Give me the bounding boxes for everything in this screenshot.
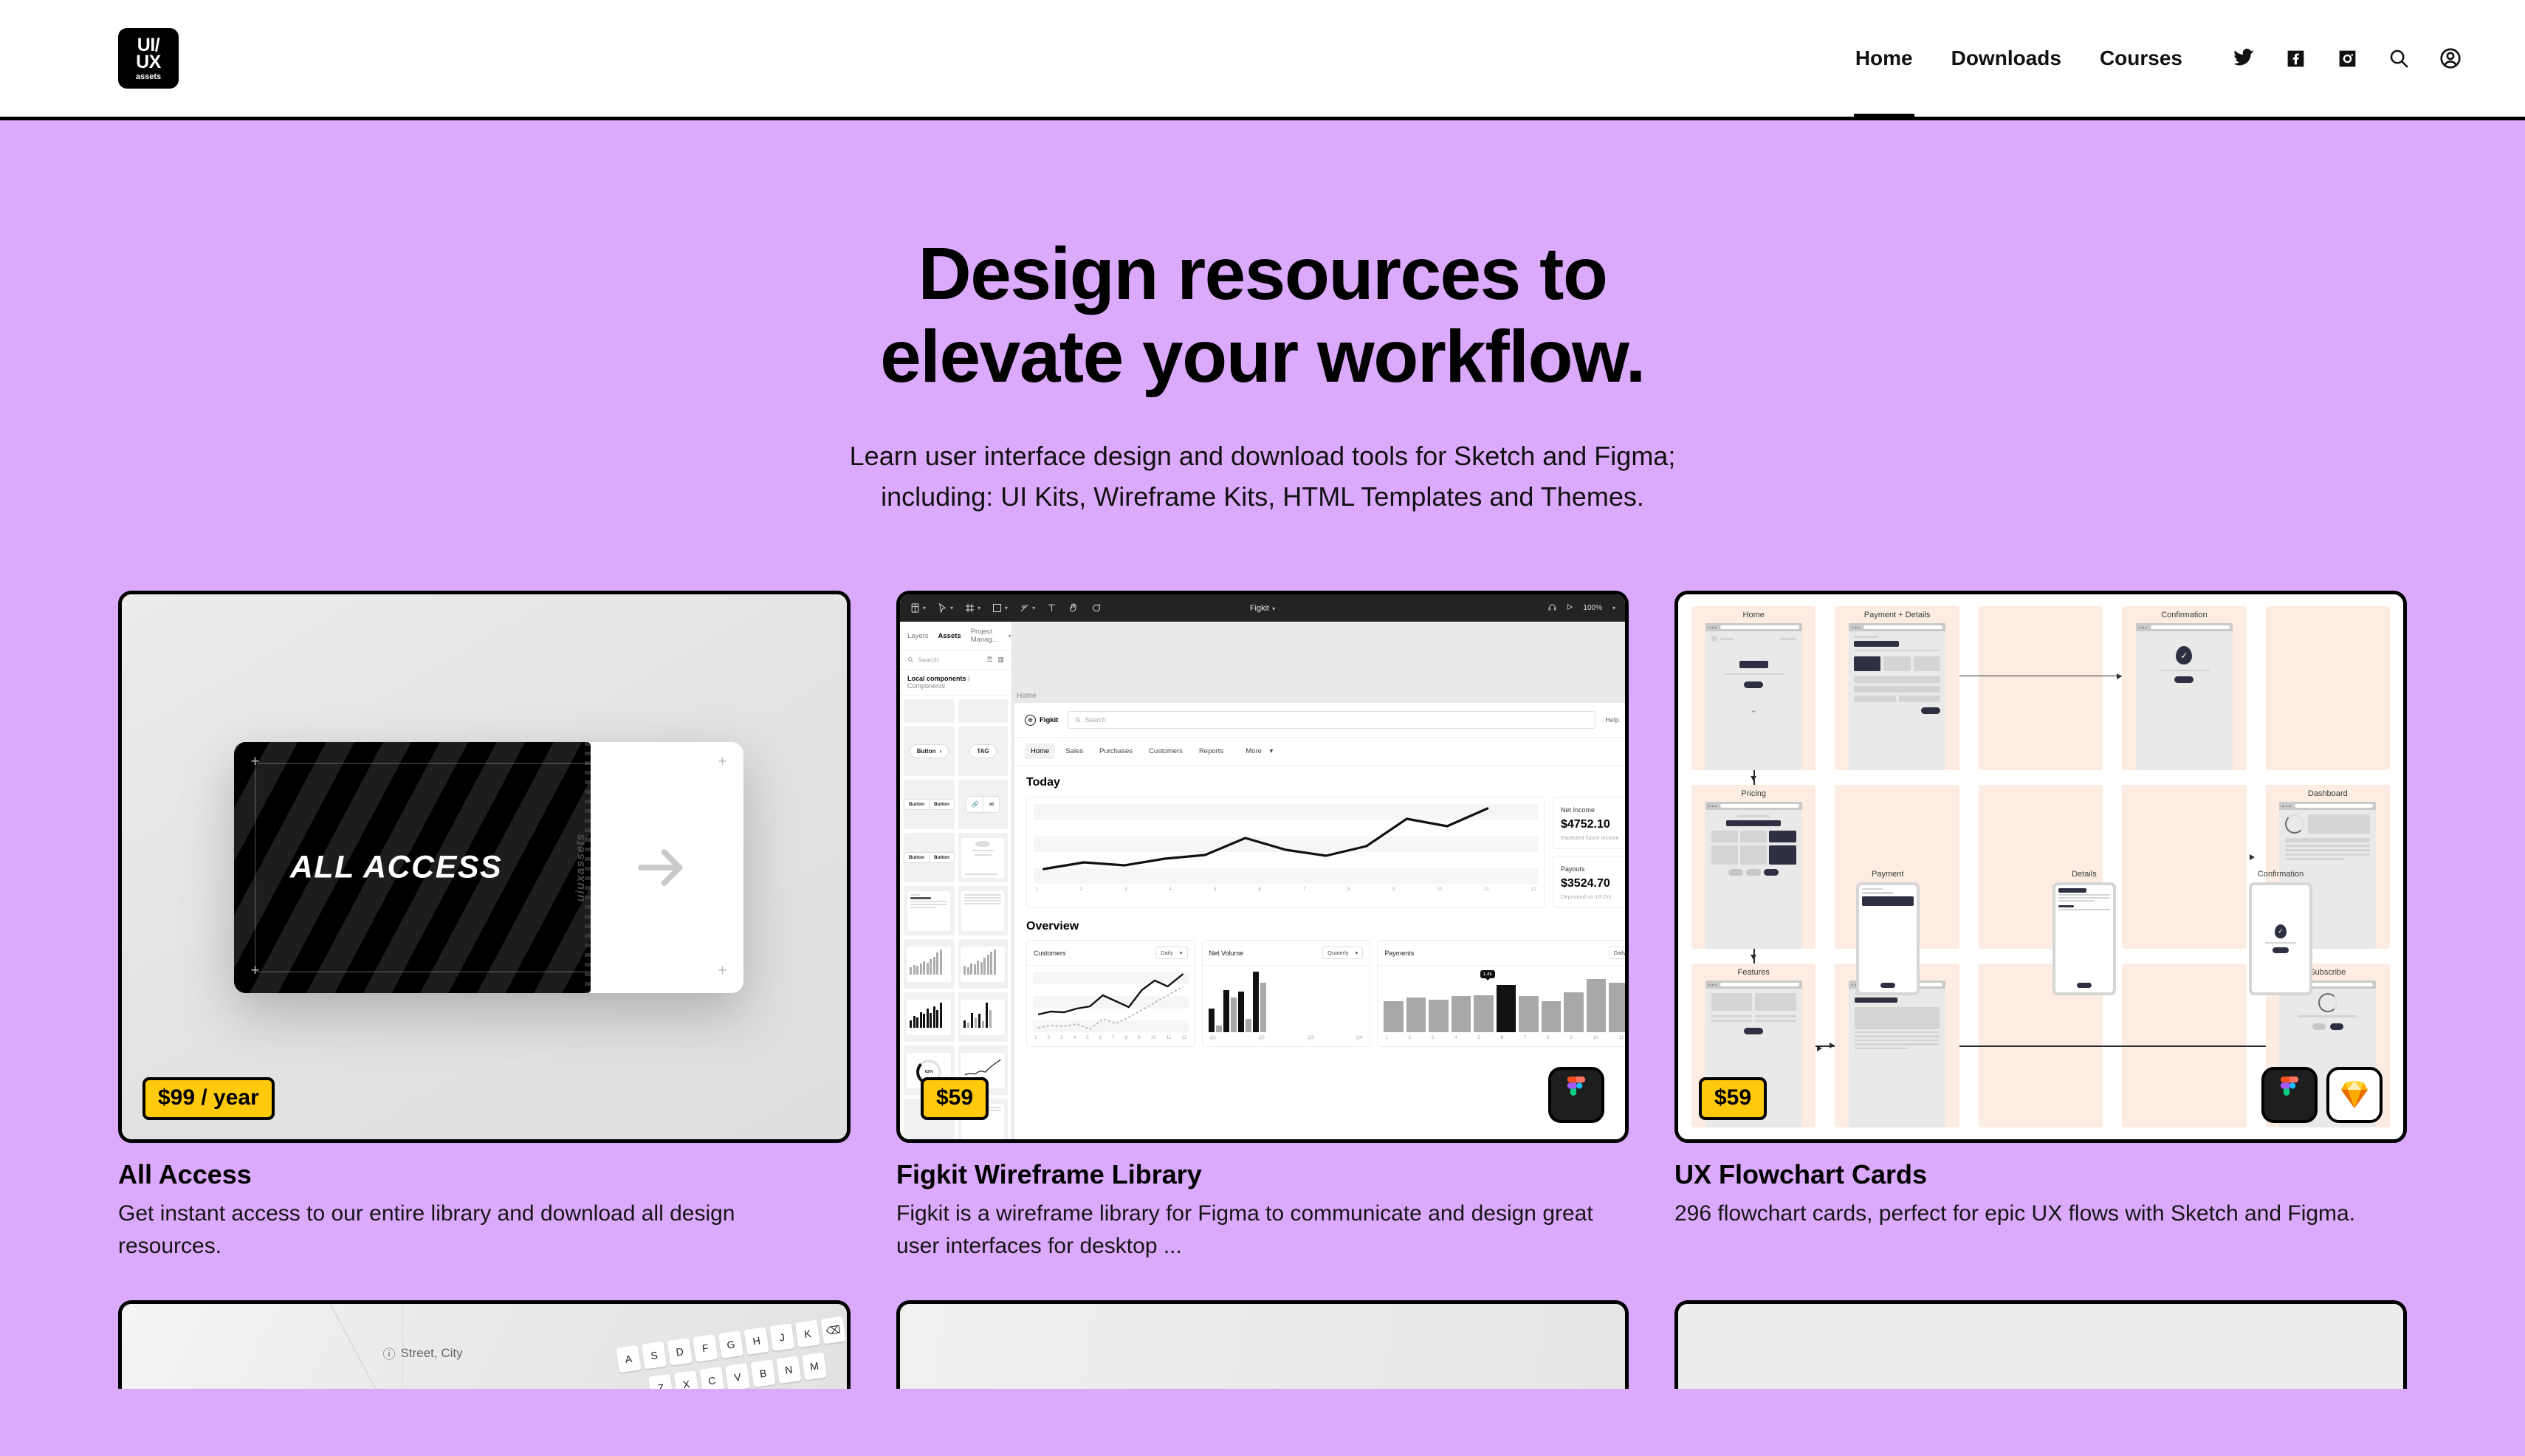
search-icon	[907, 656, 914, 663]
browser-bar	[1705, 802, 1802, 810]
overview-title: Customers	[1034, 950, 1066, 957]
keyboard-key[interactable]: N	[776, 1356, 801, 1384]
flow-screen-browser	[1705, 802, 1802, 949]
flow-cell-confirmation: Confirmation ✓	[2122, 606, 2246, 770]
breadcrumb-current: Local components	[907, 675, 966, 682]
component-tile-area-chart[interactable]	[904, 939, 955, 989]
hero-subtitle-line-2: including: UI Kits, Wireframe Kits, HTML…	[881, 481, 1644, 512]
dashboard-frame: Home ◎ Figkit Search	[1014, 703, 1625, 1139]
figma-filename: Figkit ▾	[900, 604, 1625, 613]
flow-cell-empty	[1979, 785, 2103, 949]
keyboard-key[interactable]: K	[795, 1320, 820, 1348]
tab-assets[interactable]: Assets	[938, 632, 961, 640]
component-tile-bar-chart[interactable]	[904, 992, 955, 1042]
sketch-icon	[2326, 1067, 2383, 1123]
browser-bar	[2279, 981, 2376, 989]
arrow-head-icon	[2250, 854, 2255, 860]
chart-line-series	[1034, 804, 1538, 884]
keyboard-key[interactable]: J	[769, 1324, 794, 1352]
facebook-icon[interactable]	[2270, 32, 2321, 84]
headphones-icon[interactable]	[1548, 603, 1556, 614]
flow-card-empty	[1979, 785, 2103, 949]
component-tile-article-card[interactable]	[904, 886, 955, 935]
page-title: Design resources to elevate your workflo…	[635, 233, 1890, 398]
browser-bar	[1849, 623, 1945, 631]
browser-bar	[1705, 981, 1802, 989]
period-select[interactable]: Daily▾	[1155, 947, 1187, 959]
flow-connector	[2247, 1045, 2266, 1047]
dashboard-logo: ◎ Figkit	[1025, 715, 1058, 726]
chart-x-axis: Q1Q2Q3Q4	[1209, 1032, 1364, 1040]
flow-card-label: Confirmation	[2161, 611, 2207, 619]
resource-card-all-access[interactable]: ALL ACCESS uiuxassets + + + + $99 / year…	[118, 591, 851, 1262]
dashboard-search-placeholder: Search	[1085, 716, 1106, 724]
logo-line-3: assets	[136, 73, 161, 80]
stat-value: $3524.70	[1561, 877, 1625, 890]
arrow-head-icon	[1751, 955, 1756, 960]
chart-tooltip: 1.4k	[1480, 970, 1495, 978]
keyboard-key[interactable]: G	[718, 1331, 743, 1359]
net-volume-bars	[1209, 972, 1364, 1032]
stat-column: Net Income $4752.10 Expected future inco…	[1553, 797, 1625, 908]
today-row: 123456789101112 Net Income	[1026, 797, 1625, 908]
nav-icon-group	[2218, 32, 2476, 84]
dashboard-nav-more[interactable]: More ▾	[1234, 744, 1279, 759]
component-tile[interactable]	[958, 699, 1008, 723]
flow-card: Dashboard	[2266, 785, 2390, 949]
uiuxassets-logo[interactable]: UI/ UX assets	[118, 28, 179, 89]
stat-label: Net Income	[1561, 806, 1595, 814]
browser-bar	[1705, 623, 1802, 631]
keyboard-key[interactable]: H	[743, 1328, 769, 1356]
help-link[interactable]: Help	[1605, 716, 1619, 724]
browser-bar	[2136, 623, 2233, 631]
resource-card-row2-2[interactable]	[896, 1300, 1629, 1389]
flow-card: Confirmation ✓	[2122, 606, 2246, 770]
ticket-stub	[580, 742, 743, 993]
chart-x-axis: 123456789101112	[1384, 1032, 1625, 1040]
overview-header: Customers Daily▾	[1027, 941, 1195, 966]
arrow-right-icon	[631, 837, 693, 899]
hero-section: Design resources to elevate your workflo…	[0, 120, 2525, 517]
search-icon[interactable]	[2373, 32, 2425, 84]
figma-panel-tabs: Layers Assets Project Manag... ▾	[900, 622, 1011, 650]
account-icon[interactable]	[2425, 32, 2476, 84]
keyboard-key[interactable]: Z	[648, 1374, 673, 1389]
component-tile-button[interactable]: Button›	[904, 727, 955, 776]
overview-panel-customers: Customers Daily▾	[1026, 940, 1195, 1047]
card-description: 296 flowchart cards, perfect for epic UX…	[1674, 1198, 2383, 1230]
chevron-down-icon: ▾	[1356, 950, 1358, 956]
overview-panel-payments: Payments Daily▾ 1.4k	[1377, 940, 1625, 1047]
stat-card-payouts: Payouts $3524.70 Deposited on 18 Oct	[1553, 856, 1625, 908]
nav-item-downloads[interactable]: Downloads	[1932, 0, 2081, 117]
section-heading-today: Today	[1026, 776, 1625, 789]
tool-badge-group	[1548, 1067, 1604, 1123]
twitter-icon[interactable]	[2218, 32, 2270, 84]
ticket-graphic: ALL ACCESS uiuxassets + + + +	[234, 742, 743, 993]
flow-card-label: Payment + Details	[1864, 611, 1931, 619]
list-view-icon[interactable]: ☰	[986, 656, 992, 664]
flow-card-empty	[2266, 606, 2390, 770]
figma-canvas[interactable]: Home ◎ Figkit Search	[1012, 622, 1625, 1139]
component-tile-contact-card[interactable]	[958, 833, 1008, 882]
arrow-head-icon	[1817, 1045, 1822, 1051]
keyboard-key[interactable]: V	[725, 1364, 750, 1390]
figma-window-mockup: ▾ ▾ ▾ ▾ ▾ Figkit ▾ 100% ▾	[900, 594, 1625, 1139]
dashboard-actions: Help 🔔 ⚙ ◉	[1605, 716, 1625, 724]
instagram-icon[interactable]	[2321, 32, 2373, 84]
chevron-down-icon[interactable]: ▾	[1009, 633, 1011, 639]
dashboard-topbar: ◎ Figkit Search Help 🔔	[1014, 703, 1625, 738]
flow-card-empty	[2122, 785, 2246, 949]
plain-thumbnail	[1678, 1304, 2403, 1389]
flow-card-empty	[1979, 606, 2103, 770]
keyboard-key[interactable]: S	[642, 1342, 667, 1370]
main-navigation: Home Downloads Courses	[1836, 0, 2476, 117]
dashboard-nav-reports[interactable]: Reports	[1193, 744, 1229, 759]
resource-card-grid: ALL ACCESS uiuxassets + + + + $99 / year…	[118, 591, 2407, 1262]
component-tile-icon-buttons[interactable]: ButtonButton	[904, 833, 955, 882]
card-thumbnail[interactable]: Home ⌄	[1674, 591, 2407, 1143]
ticket-main: ALL ACCESS uiuxassets	[234, 742, 591, 993]
assets-component-grid: Button› TAG ButtonButton 🔗✉	[900, 696, 1011, 1139]
flow-cell-empty	[1979, 606, 2103, 770]
figma-body: Layers Assets Project Manag... ▾ Search …	[900, 622, 1625, 1139]
price-badge: $99 / year	[142, 1077, 275, 1120]
card-title: All Access	[118, 1159, 851, 1190]
flow-card-label: Article	[1886, 968, 1909, 977]
overview-title: Net Volume	[1209, 950, 1244, 957]
keyboard-key[interactable]: F	[693, 1334, 718, 1362]
chevron-right-icon: ›	[939, 748, 941, 755]
overview-body: 1.4k 123456789101112	[1378, 966, 1625, 1046]
mail-icon: ✉	[983, 796, 1000, 813]
flow-screen-browser: ✓	[2136, 623, 2233, 770]
keyboard-key[interactable]: A	[616, 1345, 641, 1373]
card-thumbnail[interactable]: ALL ACCESS uiuxassets + + + + $99 / year	[118, 591, 851, 1143]
ticket-perforation	[585, 742, 591, 993]
flow-card: Pricing	[1691, 785, 1815, 949]
dashboard-brand: Figkit	[1040, 716, 1058, 724]
flow-screen-browser	[1849, 981, 1945, 1127]
overview-title: Payments	[1384, 950, 1414, 957]
flow-cell-pricing: Pricing	[1691, 785, 1815, 949]
dashboard-nav-customers[interactable]: Customers	[1143, 744, 1189, 759]
flow-card-label: Pricing	[1741, 789, 1766, 798]
chevron-down-icon: ▾	[1180, 950, 1183, 956]
arrow-head-icon	[2117, 673, 2122, 679]
browser-bar	[1849, 981, 1945, 989]
flow-screen-browser: ⌄	[1705, 623, 1802, 770]
tab-project-manager[interactable]: Project Manag...	[971, 628, 998, 644]
ux-flowchart-mockup: Home ⌄	[1678, 594, 2403, 1139]
dashboard-today-section: Today	[1014, 766, 1625, 1047]
card-title: Figkit Wireframe Library	[896, 1159, 1629, 1190]
customers-chart	[1033, 972, 1189, 1032]
overview-panel-net-volume: Net Volume Quaterly▾	[1202, 940, 1371, 1047]
stat-header: Payouts	[1561, 864, 1625, 874]
arrow-head-icon	[1751, 776, 1756, 781]
keyboard-key[interactable]: D	[667, 1338, 692, 1366]
backspace-icon[interactable]: ⌫	[820, 1316, 845, 1345]
chart-x-axis: 123456789101112	[1034, 884, 1538, 892]
flow-card-label: Dashboard	[2308, 789, 2348, 798]
flow-cell-empty	[2122, 964, 2246, 1127]
keyboard-key[interactable]: C	[699, 1367, 724, 1389]
flow-card: Home ⌄	[1691, 606, 1815, 770]
tool-badge-group	[2261, 1067, 2383, 1123]
card-description: Get instant access to our entire library…	[118, 1198, 827, 1262]
nav-item-home[interactable]: Home	[1836, 0, 1932, 117]
flow-cell-empty	[1835, 785, 1959, 949]
present-icon[interactable]	[1566, 603, 1573, 613]
flow-cell-empty	[2266, 606, 2390, 770]
zoom-level[interactable]: 100%	[1583, 604, 1602, 612]
flow-cell-dashboard: Dashboard	[2266, 785, 2390, 949]
resource-card-row2-3[interactable]	[1674, 1300, 2407, 1389]
card-title: UX Flowchart Cards	[1674, 1159, 2407, 1190]
frame-label: Home	[1017, 692, 1037, 700]
flow-grid: Home ⌄	[1691, 606, 2390, 1127]
component-tile-area-chart-2[interactable]	[958, 939, 1008, 989]
chevron-down-icon[interactable]: ▾	[1612, 605, 1615, 611]
stat-label: Payouts	[1561, 865, 1585, 873]
dashboard-search-input[interactable]: Search	[1068, 711, 1595, 729]
flow-card-label: Features	[1737, 968, 1769, 977]
keyboard-key[interactable]: X	[673, 1370, 698, 1389]
overview-body: 123456789101112	[1027, 966, 1195, 1046]
tab-layers[interactable]: Layers	[907, 632, 929, 640]
grid-view-icon[interactable]: ▥	[997, 656, 1004, 664]
browser-bar	[2279, 802, 2376, 810]
overview-row: Customers Daily▾	[1026, 940, 1625, 1047]
price-badge: $59	[921, 1077, 989, 1120]
keyboard-key[interactable]: B	[750, 1360, 775, 1388]
flow-screen-browser	[1849, 623, 1945, 770]
hero-title-line-1: Design resources to	[918, 233, 1607, 315]
dashboard-nav-home[interactable]: Home	[1025, 744, 1055, 759]
assets-view-toggles: ☰ ▥	[986, 656, 1004, 664]
dashboard-nav-purchases[interactable]: Purchases	[1093, 744, 1138, 759]
flow-card-empty	[1835, 785, 1959, 949]
assets-breadcrumb: Local components / Components	[900, 670, 1011, 696]
resource-card-row2-1[interactable]: ⓘ Street, City A S D F G H J K ⌫ Z X C V…	[118, 1300, 851, 1389]
hero-subtitle: Learn user interface design and download…	[0, 436, 2525, 517]
figma-left-panel: Layers Assets Project Manag... ▾ Search …	[900, 622, 1012, 1139]
flow-cell-home: Home ⌄	[1691, 606, 1815, 770]
flow-card-label: Subscribe	[2309, 968, 2346, 977]
dashboard-nav-sales[interactable]: Sales	[1059, 744, 1089, 759]
address-text: Street, City	[401, 1346, 463, 1361]
assets-search-placeholder: Search	[918, 656, 939, 664]
section-heading-overview: Overview	[1026, 920, 1625, 933]
stat-subtitle: Expected future income	[1561, 834, 1625, 841]
keyboard-key[interactable]: M	[802, 1353, 827, 1381]
flow-card-label: Home	[1743, 611, 1765, 619]
figma-icon	[2261, 1067, 2318, 1123]
overview-header: Payments Daily▾	[1378, 941, 1625, 966]
period-select[interactable]: Daily▾	[1609, 947, 1625, 959]
flow-connector	[2103, 1045, 2265, 1047]
hero-title-line-2: elevate your workflow.	[880, 315, 1645, 398]
dashboard-nav: Home Sales Purchases Customers Reports M…	[1014, 738, 1625, 766]
link-icon: 🔗	[966, 796, 983, 813]
wireframe-thumbnail	[900, 1304, 1625, 1389]
stat-value: $4752.10	[1561, 818, 1625, 831]
flow-screen-browser	[2279, 802, 2376, 949]
nav-item-courses[interactable]: Courses	[2081, 0, 2202, 117]
overview-header: Net Volume Quaterly▾	[1203, 941, 1370, 966]
resource-card-ux-flowchart[interactable]: Home ⌄	[1674, 591, 2407, 1262]
payments-bars: 1.4k	[1384, 972, 1625, 1032]
logo-line-2: UX	[136, 54, 161, 71]
stat-subtitle: Deposited on 18 Oct	[1561, 893, 1625, 900]
price-badge: $59	[1699, 1077, 1767, 1120]
dashboard-logo-mark: ◎	[1025, 715, 1036, 726]
chart-x-axis: 123456789101112	[1033, 1032, 1189, 1040]
stat-card-net-income: Net Income $4752.10 Expected future inco…	[1553, 797, 1625, 849]
search-icon	[1075, 717, 1081, 723]
stat-header: Net Income	[1561, 805, 1625, 815]
today-line-chart: 123456789101112	[1026, 797, 1545, 908]
flow-cell-article: Article	[1835, 964, 1959, 1127]
component-tile-list[interactable]	[958, 886, 1008, 935]
flow-cell-payment-details: Payment + Details	[1835, 606, 1959, 770]
period-select[interactable]: Quaterly▾	[1322, 947, 1363, 959]
flow-card: Payment + Details	[1835, 606, 1959, 770]
flow-connector	[1959, 676, 2122, 677]
overview-body: Q1Q2Q3Q4	[1203, 966, 1370, 1046]
resource-card-figkit[interactable]: ▾ ▾ ▾ ▾ ▾ Figkit ▾ 100% ▾	[896, 591, 1629, 1262]
flow-cell-empty	[2122, 785, 2246, 949]
ticket-label: ALL ACCESS	[234, 850, 558, 886]
card-thumbnail[interactable]: ▾ ▾ ▾ ▾ ▾ Figkit ▾ 100% ▾	[896, 591, 1629, 1143]
component-tile[interactable]	[904, 699, 955, 723]
card-description: Figkit is a wireframe library for Figma …	[896, 1198, 1605, 1262]
figma-icon	[1548, 1067, 1604, 1123]
hero-subtitle-line-1: Learn user interface design and download…	[850, 441, 1676, 471]
flow-connector	[1959, 1045, 2122, 1047]
chart-plot-area	[1034, 804, 1538, 884]
info-icon: ⓘ	[383, 1344, 396, 1362]
component-tile-button-pair[interactable]: ButtonButton	[904, 780, 955, 829]
address-label: ⓘ Street, City	[383, 1344, 463, 1362]
arrow-head-icon	[1830, 1043, 1835, 1048]
site-header: UI/ UX assets Home Downloads Courses	[0, 0, 2525, 120]
flow-cell-empty	[1979, 964, 2103, 1127]
figma-toolbar: ▾ ▾ ▾ ▾ ▾ Figkit ▾ 100% ▾	[900, 594, 1625, 622]
component-tile-icon-pair[interactable]: 🔗✉	[958, 780, 1008, 829]
component-tile-tag[interactable]: TAG	[958, 727, 1008, 776]
assets-search-field[interactable]: Search ☰ ▥	[900, 650, 1011, 670]
component-tile-grouped-bar-chart[interactable]	[958, 992, 1008, 1042]
figma-topbar-right: 100% ▾	[1548, 603, 1615, 614]
flow-card: Article	[1835, 964, 1959, 1127]
check-badge-icon: ✓	[2176, 646, 2192, 665]
resource-card-grid-row-2: ⓘ Street, City A S D F G H J K ⌫ Z X C V…	[118, 1300, 2407, 1389]
all-access-ticket-scene: ALL ACCESS uiuxassets + + + +	[122, 594, 847, 1139]
